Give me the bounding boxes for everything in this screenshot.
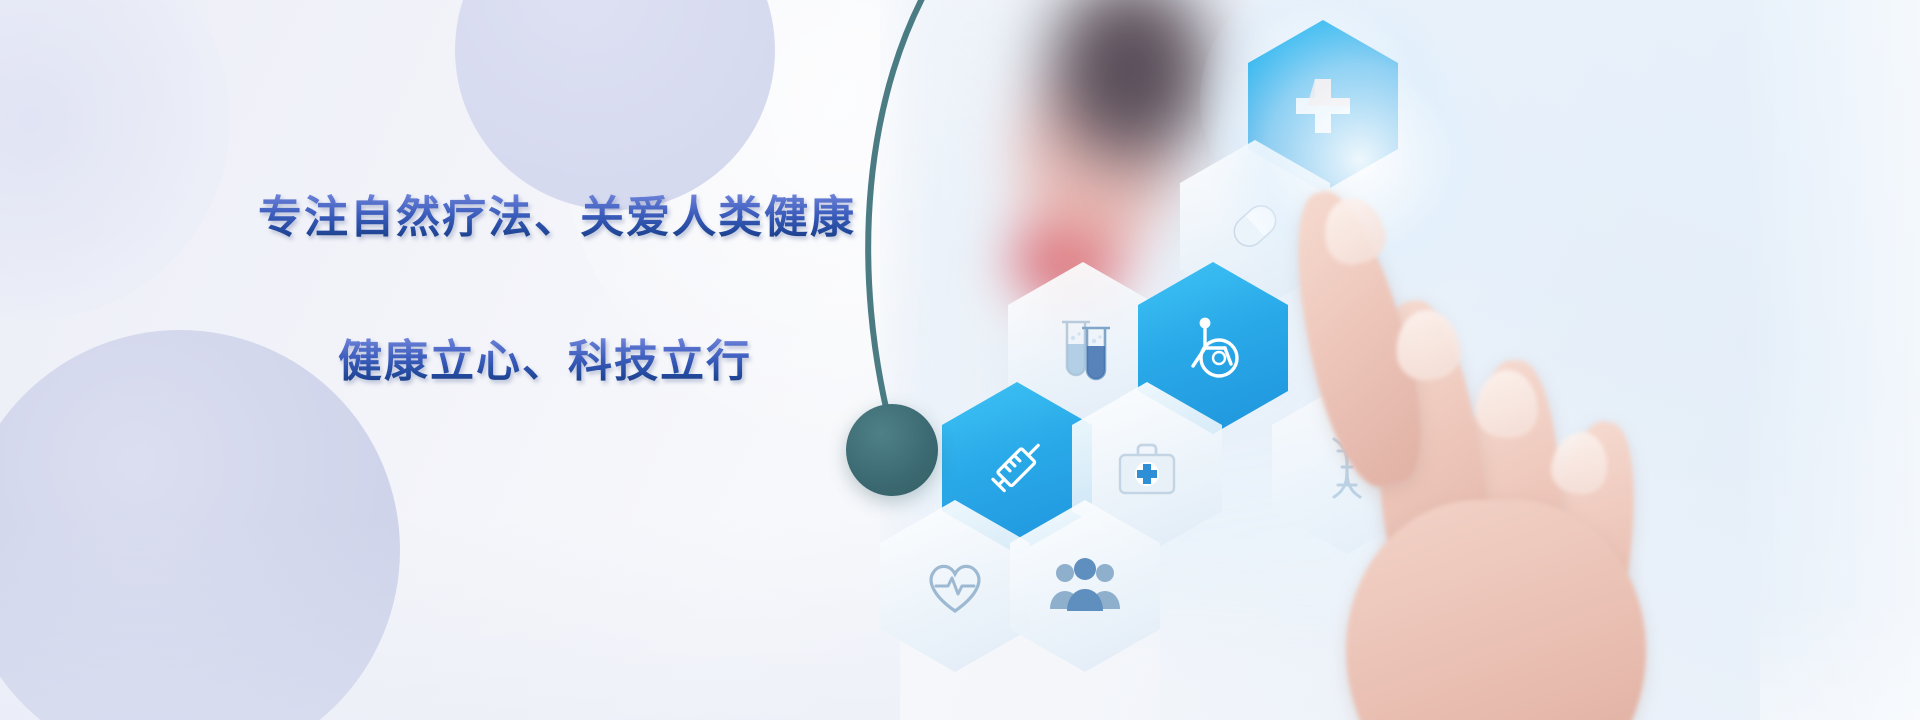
pointing-hand [1250, 170, 1670, 720]
decorative-circle-faint [0, 0, 230, 320]
heart-icon [920, 553, 990, 619]
test-tubes-icon [1047, 310, 1119, 386]
right-edge-fade [1740, 0, 1920, 720]
headline-block: 专注自然疗法、关爱人类健康 健康立心、科技立行 [258, 190, 878, 390]
first-aid-kit-icon [1110, 433, 1184, 503]
people-group-icon [1047, 555, 1123, 617]
syringe-icon [978, 429, 1056, 507]
wheelchair-icon [1175, 310, 1251, 386]
hero-banner: 专注自然疗法、关爱人类健康 健康立心、科技立行 [0, 0, 1920, 720]
background-wash-bottom [0, 520, 900, 720]
headline-line-1: 专注自然疗法、关爱人类健康 [258, 190, 878, 246]
headline-line-2: 健康立心、科技立行 [338, 334, 878, 390]
teal-node [846, 404, 938, 496]
